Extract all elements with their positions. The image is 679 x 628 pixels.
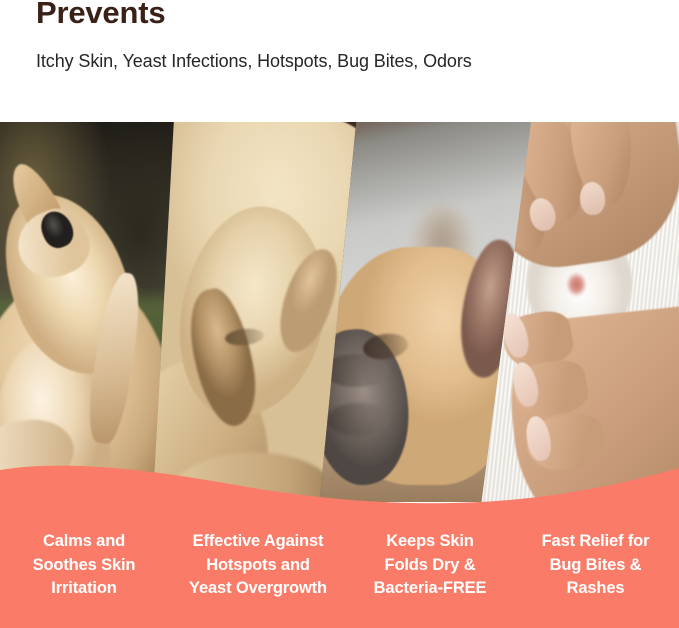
benefit-item-2: Effective Against Hotspots and Yeast Ove… bbox=[168, 524, 348, 601]
benefit-3-line-1: Keeps Skin bbox=[348, 530, 512, 554]
benefit-2-line-2: Hotspots and bbox=[168, 554, 348, 578]
benefit-1-line-3: Irritation bbox=[0, 577, 168, 601]
benefit-1-line-2: Soothes Skin bbox=[0, 554, 168, 578]
product-benefits-infographic: Prevents Itchy Skin, Yeast Infections, H… bbox=[0, 0, 679, 628]
page-title: Prevents bbox=[36, 0, 165, 32]
benefit-3-line-2: Folds Dry & bbox=[348, 554, 512, 578]
benefit-1-line-1: Calms and bbox=[0, 530, 168, 554]
benefit-4-line-1: Fast Relief for bbox=[512, 530, 679, 554]
benefit-item-3: Keeps Skin Folds Dry & Bacteria-FREE bbox=[348, 524, 512, 601]
benefit-4-line-3: Rashes bbox=[512, 577, 679, 601]
benefit-3-line-3: Bacteria-FREE bbox=[348, 577, 512, 601]
page-subtitle: Itchy Skin, Yeast Infections, Hotspots, … bbox=[36, 48, 472, 74]
benefit-item-1: Calms and Soothes Skin Irritation bbox=[0, 524, 168, 601]
benefit-4-line-2: Bug Bites & bbox=[512, 554, 679, 578]
benefits-row: Calms and Soothes Skin Irritation Effect… bbox=[0, 524, 679, 628]
benefit-2-line-3: Yeast Overgrowth bbox=[168, 577, 348, 601]
benefit-item-4: Fast Relief for Bug Bites & Rashes bbox=[512, 524, 679, 601]
header-section: Prevents Itchy Skin, Yeast Infections, H… bbox=[0, 0, 679, 122]
benefit-2-line-1: Effective Against bbox=[168, 530, 348, 554]
